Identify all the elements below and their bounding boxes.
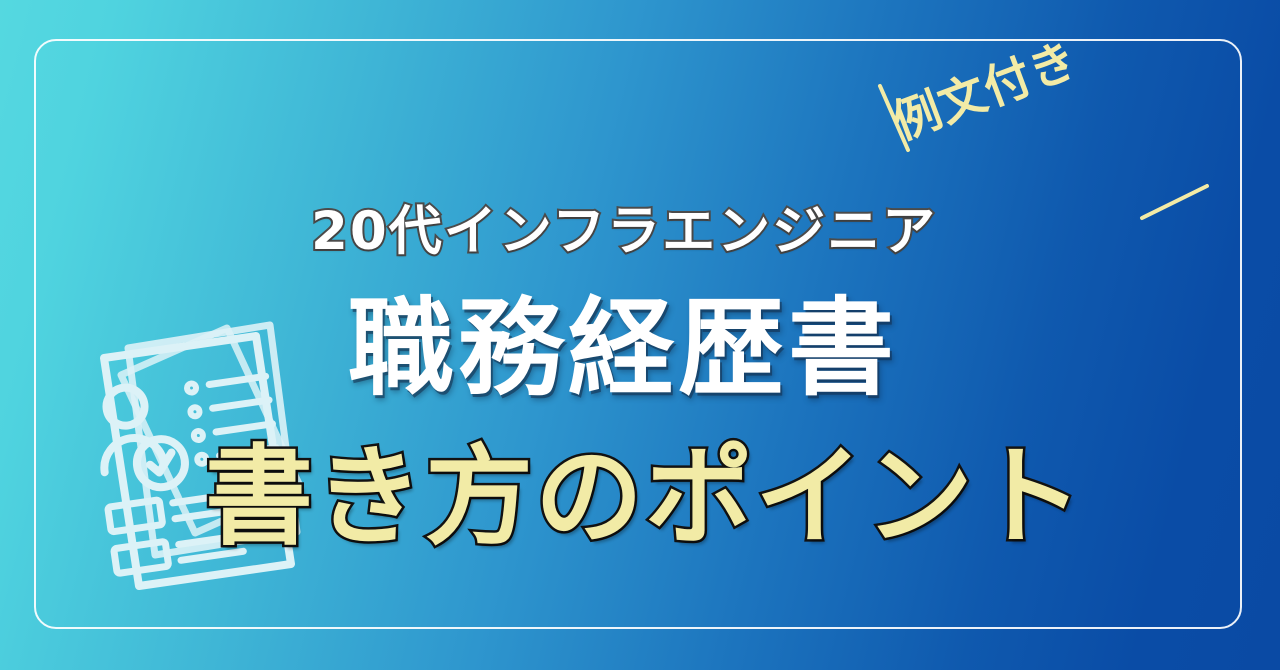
headline-group: 20代インフラエンジニア 職務経歴書 書き方のポイント — [0, 0, 1280, 670]
headline-title-sub: 書き方のポイント — [205, 444, 1085, 552]
headline-subtitle: 20代インフラエンジニア — [311, 205, 937, 258]
headline-title-main: 職務経歴書 — [348, 296, 898, 402]
promotional-banner: 例文付き 20代インフラエンジニア 職務経歴書 書き方のポイント — [0, 0, 1280, 670]
